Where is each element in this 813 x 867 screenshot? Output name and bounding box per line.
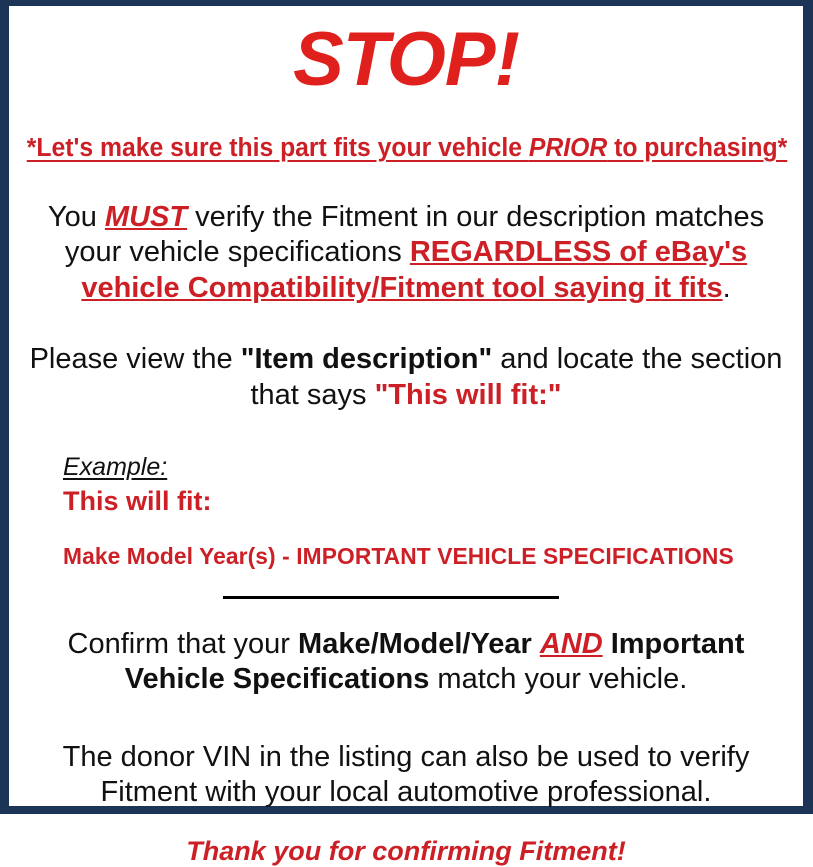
section-divider bbox=[223, 596, 559, 599]
must-seg-3: . bbox=[723, 272, 731, 304]
divider-wrap bbox=[15, 596, 797, 599]
subtitle-text-after: to purchasing* bbox=[607, 134, 787, 162]
example-fit-line: This will fit: bbox=[63, 486, 797, 517]
emphasis-and: AND bbox=[540, 628, 603, 660]
closing-thank-you: Thank you for confirming Fitment! bbox=[15, 836, 797, 867]
emphasis-make-model-year: Make/Model/Year bbox=[298, 628, 532, 660]
example-label-row: Example: bbox=[63, 453, 797, 482]
example-spec-line: Make Model Year(s) - IMPORTANT VEHICLE S… bbox=[63, 543, 790, 570]
subtitle-text-before: *Let's make sure this part fits your veh… bbox=[27, 134, 529, 162]
confirm-seg-1: Confirm that your bbox=[68, 628, 298, 660]
emphasis-item-description: "Item description" bbox=[241, 343, 492, 375]
subtitle-line: *Let's make sure this part fits your veh… bbox=[27, 134, 786, 162]
must-seg-1: You bbox=[48, 201, 105, 233]
emphasis-must: MUST bbox=[105, 201, 187, 233]
confirm-seg-3 bbox=[603, 628, 611, 660]
paragraph-confirm: Confirm that your Make/Model/Year AND Im… bbox=[21, 627, 791, 698]
confirm-seg-2 bbox=[532, 628, 540, 660]
stop-headline: STOP! bbox=[15, 22, 797, 98]
banner-content: STOP! *Let's make sure this part fits yo… bbox=[9, 6, 803, 806]
example-block: Example: This will fit: Make Model Year(… bbox=[15, 453, 797, 570]
confirm-seg-4: match your vehicle. bbox=[429, 663, 687, 695]
paragraph-item-description: Please view the "Item description" and l… bbox=[21, 342, 791, 413]
desc-seg-1: Please view the bbox=[30, 343, 241, 375]
subtitle-emphasis-prior: PRIOR bbox=[529, 134, 607, 162]
paragraph-must-verify: You MUST verify the Fitment in our descr… bbox=[21, 200, 791, 306]
paragraph-donor-vin: The donor VIN in the listing can also be… bbox=[21, 740, 791, 811]
example-label: Example: bbox=[63, 453, 167, 482]
emphasis-this-will-fit: "This will fit:" bbox=[375, 379, 562, 411]
fitment-warning-banner: STOP! *Let's make sure this part fits yo… bbox=[0, 0, 813, 814]
